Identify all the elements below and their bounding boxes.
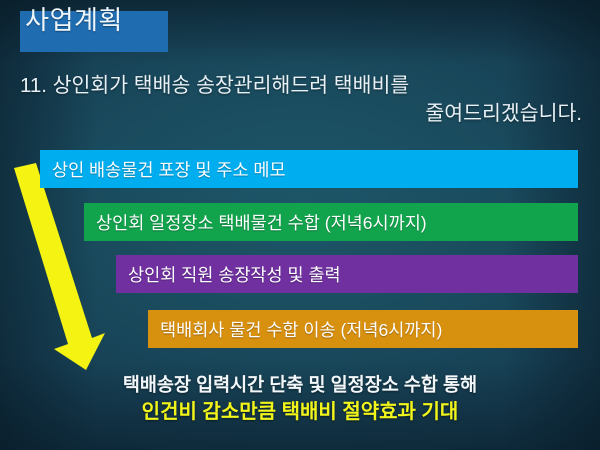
presentation-slide: 사업계획 11. 상인회가 택배송 송장관리해드려 택배비를 줄여드리겠습니다.… [0, 0, 600, 450]
conclusion-line-1: 택배송장 입력시간 단축 및 일정장소 수합 통해 [0, 372, 600, 398]
process-step-3-label: 상인회 직원 송장작성 및 출력 [128, 262, 341, 287]
process-step-3: 상인회 직원 송장작성 및 출력 [116, 255, 578, 293]
process-step-2-label: 상인회 일정장소 택배물건 수합 (저녁6시까지) [96, 210, 427, 235]
slide-subtitle: 11. 상인회가 택배송 송장관리해드려 택배비를 줄여드리겠습니다. [20, 72, 582, 128]
subtitle-line-2: 줄여드리겠습니다. [20, 100, 582, 128]
subtitle-line-1: 11. 상인회가 택배송 송장관리해드려 택배비를 [20, 72, 582, 100]
process-step-4-label: 택배회사 물건 수합 이송 (저녁6시까지) [160, 317, 442, 342]
process-step-2: 상인회 일정장소 택배물건 수합 (저녁6시까지) [84, 203, 578, 241]
slide-title: 사업계획 [0, 0, 148, 41]
process-step-4: 택배회사 물건 수합 이송 (저녁6시까지) [148, 310, 578, 348]
slide-conclusion: 택배송장 입력시간 단축 및 일정장소 수합 통해 인건비 감소만큼 택배비 절… [0, 372, 600, 426]
process-step-1-label: 상인 배송물건 포장 및 주소 메모 [52, 157, 286, 182]
conclusion-line-2: 인건비 감소만큼 택배비 절약효과 기대 [0, 398, 600, 426]
process-step-1: 상인 배송물건 포장 및 주소 메모 [40, 150, 578, 188]
